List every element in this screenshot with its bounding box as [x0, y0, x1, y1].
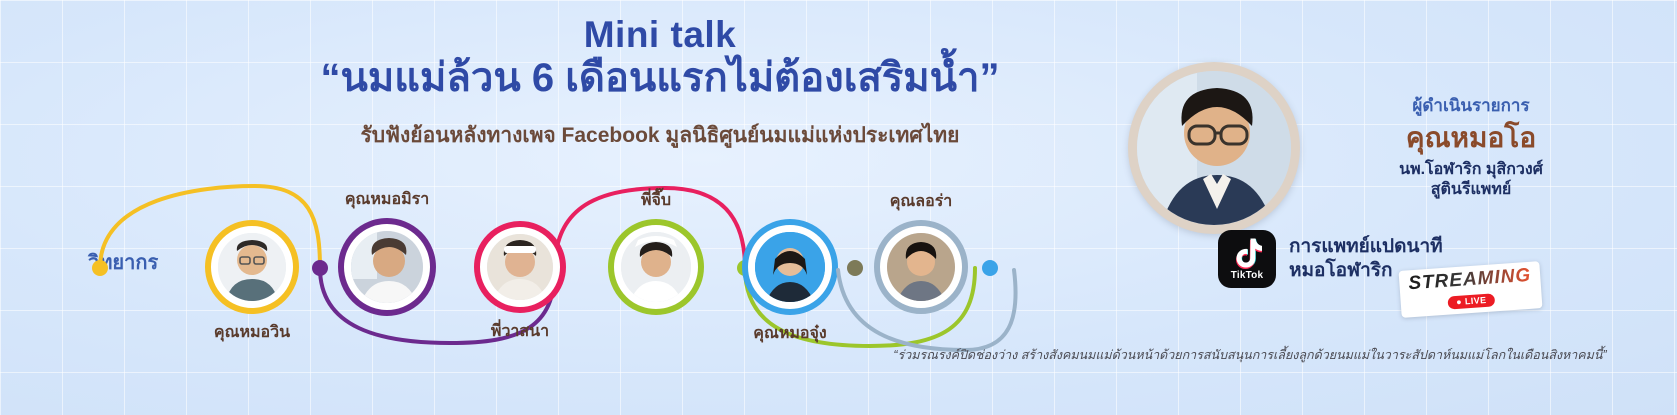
title-block: Mini talk “นมแม่ล้วน 6 เดือนแรกไม่ต้องเส… [250, 14, 1070, 152]
page-tagline: รับฟังย้อนหลังทางเพจ Facebook มูลนิธิศูน… [250, 119, 1070, 152]
host-avatar [1128, 62, 1300, 234]
host-fullname: นพ.โอฬาริก มุสิกวงศ์ [1306, 160, 1636, 180]
footnote-text: “ร่วมรณรงค์ปิดช่องว่าง สร้างสังคมนมแม่ด้… [840, 345, 1660, 365]
banner-root: Mini talk “นมแม่ล้วน 6 เดือนแรกไม่ต้องเส… [0, 0, 1677, 415]
tiktok-note-icon [1232, 237, 1262, 269]
page-subtitle-quote: “นมแม่ล้วน 6 เดือนแรกไม่ต้องเสริมน้ำ” [250, 55, 1070, 102]
host-specialty: สูตินรีแพทย์ [1306, 180, 1636, 200]
social-handle-line1: การแพทย์แปดนาที [1289, 235, 1443, 259]
tiktok-icon[interactable]: TikTok [1218, 230, 1276, 288]
page-title: Mini talk [250, 14, 1070, 55]
host-name: คุณหมอโอ [1306, 123, 1636, 154]
timeline-tail-arc [0, 178, 1060, 353]
tiktok-wordmark: TikTok [1231, 270, 1264, 281]
live-badge: ● LIVE [1448, 293, 1495, 309]
host-photo-icon [1137, 71, 1293, 227]
host-info: ผู้ดำเนินรายการ คุณหมอโอ นพ.โอฬาริก มุสิ… [1306, 92, 1636, 201]
host-role-label: ผู้ดำเนินรายการ [1306, 92, 1636, 119]
streaming-badge: STREAMING ● LIVE [1399, 261, 1543, 318]
